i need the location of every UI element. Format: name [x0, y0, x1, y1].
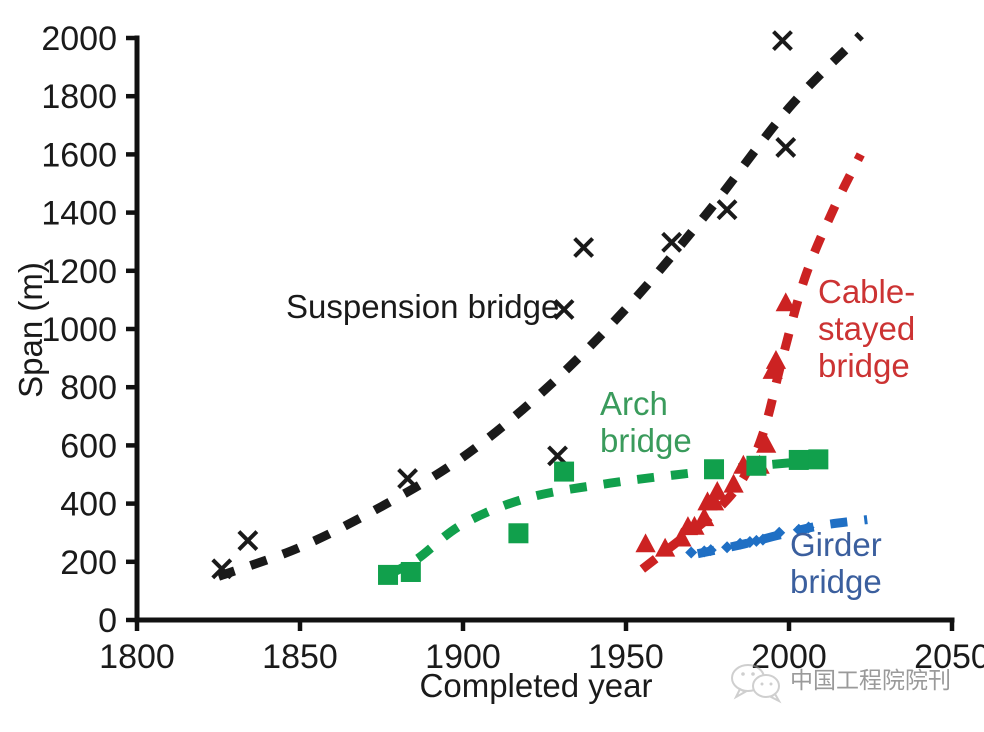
data-point-x	[773, 32, 791, 50]
y-tick-labels: 0200400600800100012001400160018002000	[41, 20, 117, 640]
series-label-arch-line1: Arch	[600, 385, 668, 422]
y-tick-label: 1200	[41, 253, 117, 291]
data-point-x	[575, 239, 593, 257]
data-point-triangle	[766, 350, 786, 369]
data-point-x	[777, 138, 795, 156]
series-label-girder-line1: Girder	[790, 526, 882, 563]
y-tick-label: 1600	[41, 136, 117, 174]
x-axis-title: Completed year	[420, 667, 653, 704]
y-tick-label: 200	[60, 544, 117, 582]
series-label-arch-line2: bridge	[600, 422, 692, 459]
data-point-x	[399, 470, 417, 488]
data-point-diamond	[685, 546, 697, 558]
data-point-square	[789, 450, 809, 470]
y-tick-label: 1000	[41, 311, 117, 349]
data-point-triangle	[635, 533, 655, 552]
data-point-square	[378, 565, 398, 585]
y-tick-label: 0	[98, 602, 117, 640]
y-tick-label: 600	[60, 427, 117, 465]
y-tick-label: 1400	[41, 195, 117, 233]
series-label-suspension: Suspension bridge	[286, 288, 559, 325]
series-label-girder-line2: bridge	[790, 563, 882, 600]
data-point-square	[808, 449, 828, 469]
data-point-x	[239, 532, 257, 550]
y-tick-label: 800	[60, 369, 117, 407]
chart-figure: 0200400600800100012001400160018002000 18…	[0, 0, 984, 732]
data-point-x	[718, 201, 736, 219]
y-axis-title: Span (m)	[12, 262, 49, 398]
series-label-cable-stayed-line2: stayed	[818, 310, 915, 347]
data-point-square	[704, 459, 724, 479]
y-tick-label: 1800	[41, 78, 117, 116]
data-point-square	[746, 456, 766, 476]
data-point-square	[508, 523, 528, 543]
series-label-cable-stayed-line1: Cable-	[818, 273, 915, 310]
y-tick-label: 2000	[41, 20, 117, 58]
x-tick-label: 1800	[99, 638, 175, 676]
x-tick-label: 1850	[262, 638, 338, 676]
y-tick-label: 400	[60, 486, 117, 524]
span-vs-year-scatter-chart: 0200400600800100012001400160018002000 18…	[0, 0, 984, 732]
data-point-triangle	[707, 481, 727, 500]
data-point-square	[554, 462, 574, 482]
watermark-label: 中国工程院院刊	[790, 667, 951, 693]
trend-line-square	[388, 459, 838, 575]
data-point-square	[401, 562, 421, 582]
series-label-cable-stayed-line3: bridge	[818, 347, 910, 384]
